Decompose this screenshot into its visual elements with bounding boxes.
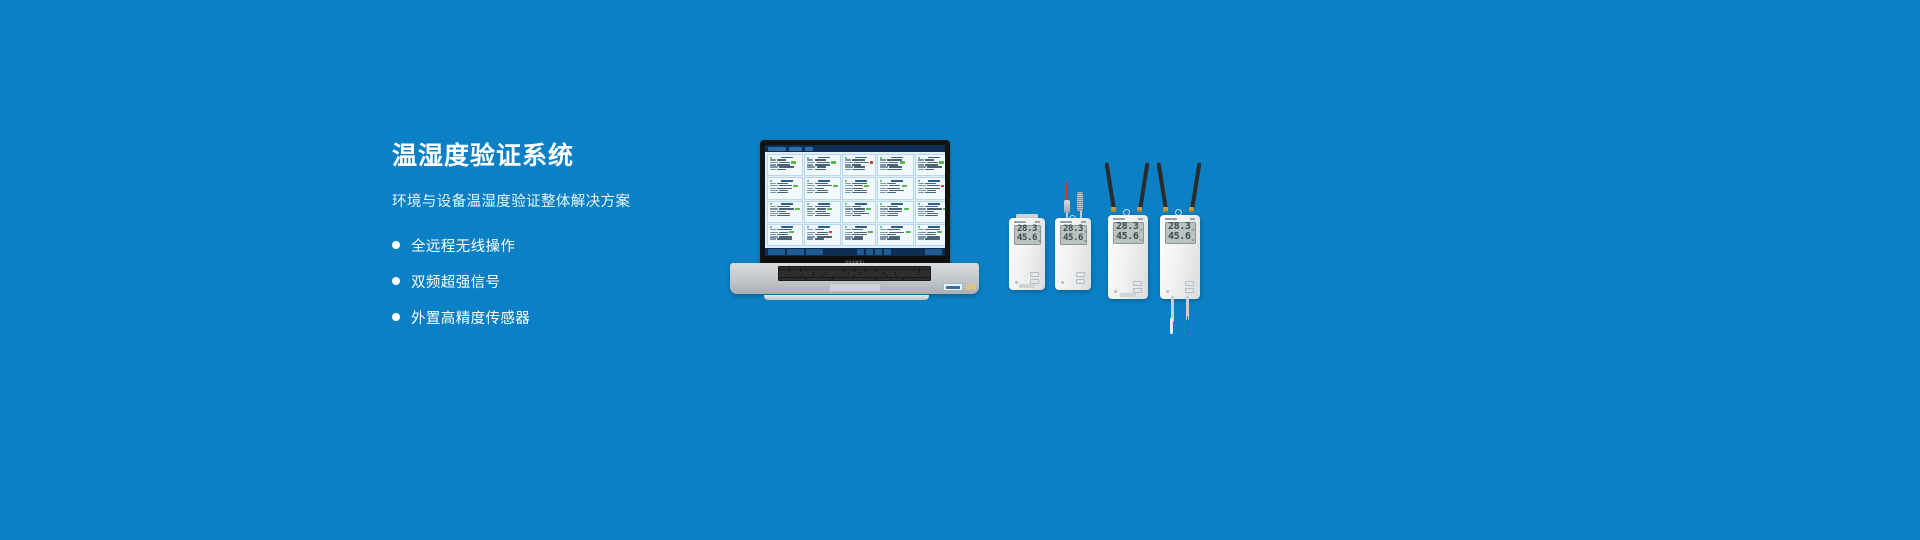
toolbar-page-1[interactable] bbox=[857, 249, 864, 255]
card-field-value bbox=[887, 183, 896, 184]
monitoring-card[interactable] bbox=[842, 177, 876, 199]
card-field-row bbox=[918, 234, 946, 235]
device-body: 28.3 ℃ 45.6 % bbox=[1055, 218, 1091, 290]
card-field-row bbox=[845, 206, 873, 207]
card-field-label bbox=[918, 159, 924, 160]
bullet-dot-icon bbox=[392, 277, 400, 285]
card-device-name bbox=[891, 157, 903, 159]
device-dual-antenna-logger-right[interactable]: 28.3 ℃ 45.6 % bbox=[1160, 210, 1200, 299]
card-status-led-icon bbox=[807, 157, 809, 159]
card-field-row bbox=[807, 231, 837, 233]
card-field-value bbox=[854, 166, 865, 167]
card-field-value bbox=[887, 169, 902, 170]
laptop-secondary-sticker bbox=[966, 284, 976, 290]
card-device-name bbox=[855, 157, 867, 159]
laptop-keyboard[interactable] bbox=[778, 266, 931, 281]
card-field-value bbox=[852, 211, 865, 212]
antenna-left-icon bbox=[1105, 162, 1116, 210]
card-field-value bbox=[925, 211, 934, 212]
card-field-row bbox=[770, 208, 800, 210]
card-field-row bbox=[918, 208, 946, 210]
card-field-label bbox=[880, 206, 886, 207]
card-field-row bbox=[845, 215, 873, 216]
feature-item-signal: 双频超强信号 bbox=[392, 269, 722, 294]
card-field-label bbox=[880, 208, 888, 209]
page-title: 温湿度验证系统 bbox=[392, 142, 722, 171]
card-field-label bbox=[918, 164, 924, 165]
card-field-label bbox=[770, 213, 778, 214]
lcd-humidity-value: 45.6 bbox=[1116, 232, 1138, 242]
card-status-led-icon bbox=[845, 157, 847, 159]
card-normal-tag bbox=[831, 161, 836, 163]
toolbar-page-2[interactable] bbox=[866, 249, 873, 255]
card-field-value bbox=[777, 169, 786, 170]
card-field-label bbox=[770, 159, 776, 160]
card-field-value bbox=[815, 188, 824, 189]
device-button-column bbox=[1133, 281, 1142, 294]
device-button-up[interactable] bbox=[1185, 281, 1194, 286]
card-field-row bbox=[845, 229, 873, 230]
card-status-led-icon bbox=[918, 180, 920, 182]
card-status-led-icon bbox=[845, 203, 847, 205]
card-field-label bbox=[918, 190, 926, 191]
lcd-humidity-row: 45.6 % bbox=[1116, 232, 1140, 242]
laptop-touchpad[interactable] bbox=[829, 283, 881, 292]
card-field-label bbox=[770, 234, 776, 235]
card-status-led-icon bbox=[880, 157, 882, 159]
card-field-label bbox=[807, 185, 815, 186]
card-field-label bbox=[880, 236, 888, 237]
card-field-row bbox=[770, 234, 800, 235]
card-field-value bbox=[779, 208, 794, 209]
monitoring-card[interactable] bbox=[877, 177, 913, 199]
card-field-value bbox=[927, 208, 942, 209]
card-field-row bbox=[880, 234, 910, 235]
card-field-label bbox=[880, 159, 886, 160]
card-field-row bbox=[880, 164, 910, 165]
card-field-label bbox=[770, 188, 776, 189]
card-status-led-icon bbox=[807, 226, 809, 228]
card-header bbox=[770, 203, 800, 205]
card-field-row bbox=[807, 169, 837, 170]
card-field-row bbox=[918, 211, 946, 212]
card-field-row bbox=[845, 192, 873, 193]
card-device-name bbox=[818, 203, 830, 205]
device-model-label bbox=[1081, 221, 1086, 223]
card-normal-tag bbox=[868, 231, 873, 233]
card-header bbox=[880, 203, 910, 205]
keyboard-key[interactable] bbox=[819, 278, 832, 280]
device-model-label bbox=[1138, 218, 1143, 220]
card-field-label bbox=[918, 169, 924, 170]
toolbar-button-settings[interactable] bbox=[806, 249, 823, 255]
device-button-column bbox=[1076, 272, 1085, 285]
card-field-row bbox=[880, 169, 910, 170]
card-field-value bbox=[889, 162, 898, 163]
card-field-label bbox=[845, 188, 851, 189]
card-field-value bbox=[815, 169, 826, 170]
card-field-value bbox=[927, 236, 940, 237]
card-field-row bbox=[880, 208, 910, 210]
keyboard-key[interactable] bbox=[833, 278, 877, 280]
card-field-label bbox=[845, 183, 851, 184]
monitoring-card[interactable] bbox=[804, 201, 840, 223]
lcd-temperature-unit: ℃ bbox=[1084, 231, 1087, 235]
card-field-label bbox=[918, 215, 924, 216]
card-field-value bbox=[817, 236, 832, 237]
card-field-value bbox=[777, 192, 788, 193]
card-field-row bbox=[807, 159, 837, 160]
toolbar-button-exit[interactable] bbox=[925, 249, 942, 255]
antenna-connector-right bbox=[1189, 207, 1194, 212]
card-field-value bbox=[927, 162, 938, 163]
card-field-label bbox=[807, 236, 815, 237]
monitoring-card[interactable] bbox=[915, 224, 946, 246]
card-normal-tag bbox=[833, 185, 838, 187]
card-field-row bbox=[845, 190, 873, 191]
card-field-row bbox=[807, 183, 837, 184]
card-field-label bbox=[770, 206, 776, 207]
card-field-label bbox=[807, 159, 813, 160]
card-field-label bbox=[918, 229, 924, 230]
keyboard-key[interactable] bbox=[806, 278, 819, 280]
monitoring-card[interactable] bbox=[767, 224, 803, 246]
card-field-label bbox=[918, 192, 924, 193]
device-body: 28.3 ℃ 45.6 % bbox=[1108, 215, 1148, 299]
card-field-row bbox=[770, 206, 800, 207]
card-field-row bbox=[807, 229, 837, 230]
lcd-humidity-row: 45.6 % bbox=[1063, 234, 1083, 243]
monitoring-card[interactable] bbox=[877, 201, 913, 223]
device-lcd-display: 28.3 ℃ 45.6 % bbox=[1165, 222, 1196, 244]
card-field-value bbox=[852, 159, 865, 160]
titlebar-menu-alarm[interactable] bbox=[805, 147, 813, 151]
card-field-label bbox=[770, 232, 778, 233]
probe-cap-left bbox=[1064, 200, 1070, 213]
device-brand-row bbox=[1108, 215, 1148, 220]
device-button-down[interactable] bbox=[1185, 288, 1194, 293]
card-field-label bbox=[918, 188, 924, 189]
feature-label: 外置高精度传感器 bbox=[411, 307, 530, 328]
card-field-value bbox=[779, 166, 794, 167]
card-normal-tag bbox=[906, 231, 911, 233]
card-field-label bbox=[770, 162, 778, 163]
card-field-label bbox=[807, 190, 815, 191]
antenna-right-icon bbox=[1138, 162, 1149, 210]
toolbar-button-export[interactable] bbox=[787, 249, 804, 255]
card-field-label bbox=[918, 208, 926, 209]
card-field-label bbox=[807, 215, 813, 216]
card-field-value bbox=[815, 183, 828, 184]
card-field-row bbox=[918, 192, 946, 193]
device-brand-label bbox=[1014, 221, 1026, 223]
card-field-value bbox=[925, 192, 936, 193]
card-normal-tag bbox=[791, 161, 796, 163]
card-field-label bbox=[845, 192, 851, 193]
card-field-value bbox=[777, 211, 786, 212]
card-field-label bbox=[807, 188, 813, 189]
card-field-row bbox=[770, 238, 800, 239]
card-field-label bbox=[880, 166, 888, 167]
card-field-value bbox=[889, 213, 898, 214]
card-header bbox=[880, 157, 910, 159]
card-field-value bbox=[817, 190, 828, 191]
lcd-humidity-row: 45.6 % bbox=[1168, 232, 1192, 242]
card-field-value bbox=[887, 164, 898, 165]
card-field-value bbox=[779, 190, 788, 191]
card-field-row bbox=[918, 185, 946, 187]
monitoring-card[interactable] bbox=[767, 154, 803, 176]
card-device-name bbox=[855, 226, 867, 228]
card-field-value bbox=[925, 169, 934, 170]
card-field-label bbox=[845, 208, 853, 209]
device-status-led-icon bbox=[1061, 281, 1064, 284]
card-field-label bbox=[880, 192, 886, 193]
card-field-value bbox=[815, 192, 828, 193]
card-field-value bbox=[817, 166, 826, 167]
monitoring-card[interactable] bbox=[842, 224, 876, 246]
card-field-row bbox=[845, 211, 873, 212]
card-field-value bbox=[925, 234, 936, 235]
card-field-value bbox=[925, 229, 940, 230]
keyboard-key[interactable] bbox=[917, 278, 930, 280]
card-field-label bbox=[807, 162, 815, 163]
monitoring-card[interactable] bbox=[804, 177, 840, 199]
card-device-name bbox=[928, 226, 940, 228]
card-field-row bbox=[845, 169, 873, 170]
page-subtitle: 环境与设备温湿度验证整体解决方案 bbox=[392, 190, 722, 211]
keyboard-key[interactable] bbox=[792, 278, 805, 280]
card-field-value bbox=[779, 232, 788, 233]
card-device-name bbox=[928, 180, 940, 182]
card-field-value bbox=[887, 234, 896, 235]
titlebar-menu-devices[interactable] bbox=[789, 147, 802, 151]
monitoring-card[interactable] bbox=[877, 224, 913, 246]
card-normal-tag bbox=[864, 185, 869, 187]
monitoring-card[interactable] bbox=[877, 154, 913, 176]
laptop-spec-sticker bbox=[943, 283, 963, 291]
lcd-humidity-unit: % bbox=[1139, 239, 1142, 243]
card-field-value bbox=[854, 208, 865, 209]
card-device-name bbox=[855, 203, 867, 205]
card-field-value bbox=[777, 238, 792, 239]
card-field-row bbox=[880, 229, 910, 230]
card-device-name bbox=[928, 157, 940, 159]
card-status-led-icon bbox=[880, 203, 882, 205]
monitoring-card[interactable] bbox=[915, 177, 946, 199]
card-field-row bbox=[807, 185, 837, 187]
card-header bbox=[845, 203, 873, 205]
card-field-label bbox=[880, 185, 888, 186]
card-header bbox=[845, 157, 873, 159]
card-field-row bbox=[770, 159, 800, 160]
card-header bbox=[918, 180, 946, 182]
card-field-label bbox=[770, 229, 776, 230]
card-header bbox=[770, 157, 800, 159]
card-field-value bbox=[887, 238, 900, 239]
card-normal-tag bbox=[827, 208, 832, 210]
card-field-label bbox=[845, 185, 853, 186]
external-sensor-tip-left bbox=[1170, 318, 1173, 334]
card-header bbox=[807, 226, 837, 228]
toolbar-page-4[interactable] bbox=[884, 249, 891, 255]
keyboard-key[interactable] bbox=[779, 278, 792, 280]
lcd-humidity-value: 45.6 bbox=[1017, 234, 1037, 243]
card-field-value bbox=[889, 236, 900, 237]
device-wireless-data-logger-probe[interactable]: 28.3 ℃ 45.6 % bbox=[1055, 218, 1091, 290]
card-field-value bbox=[779, 236, 792, 237]
antenna-connector-left bbox=[1163, 207, 1168, 212]
card-header bbox=[880, 226, 910, 228]
monitoring-card[interactable] bbox=[842, 201, 876, 223]
card-field-label bbox=[770, 164, 776, 165]
card-field-row bbox=[880, 215, 910, 216]
monitoring-card[interactable] bbox=[915, 154, 946, 176]
card-field-value bbox=[925, 206, 938, 207]
monitoring-card[interactable] bbox=[804, 224, 840, 246]
card-field-label bbox=[770, 166, 778, 167]
device-brand-label bbox=[1165, 218, 1177, 220]
card-field-label bbox=[918, 213, 926, 214]
monitoring-card[interactable] bbox=[842, 154, 876, 176]
card-field-label bbox=[845, 190, 853, 191]
card-field-label bbox=[770, 190, 778, 191]
antenna-right-icon bbox=[1190, 162, 1201, 210]
laptop-base bbox=[722, 260, 987, 300]
card-field-label bbox=[807, 192, 813, 193]
titlebar-menu-monitoring[interactable] bbox=[768, 147, 786, 151]
card-field-label bbox=[770, 192, 776, 193]
card-field-row bbox=[918, 190, 946, 191]
device-button-up[interactable] bbox=[1133, 281, 1142, 286]
card-field-label bbox=[918, 183, 924, 184]
card-field-label bbox=[918, 234, 924, 235]
card-field-value bbox=[852, 192, 867, 193]
card-status-led-icon bbox=[845, 226, 847, 228]
card-field-label bbox=[845, 162, 853, 163]
keyboard-key[interactable] bbox=[890, 278, 903, 280]
card-field-row bbox=[845, 208, 873, 210]
card-field-value bbox=[887, 211, 902, 212]
card-field-label bbox=[845, 232, 853, 233]
device-model-label bbox=[1035, 221, 1040, 223]
laptop-product-image: HUAWEI bbox=[722, 140, 987, 300]
device-button-down[interactable] bbox=[1076, 279, 1085, 284]
card-field-value bbox=[777, 183, 788, 184]
card-field-row bbox=[845, 213, 873, 214]
card-field-value bbox=[779, 213, 790, 214]
card-field-row bbox=[770, 215, 800, 216]
card-field-value bbox=[852, 188, 863, 189]
device-wireless-data-logger-basic[interactable]: 28.3 ℃ 45.6 % bbox=[1009, 218, 1045, 290]
monitoring-card[interactable] bbox=[804, 154, 840, 176]
card-field-value bbox=[852, 183, 867, 184]
card-field-value bbox=[889, 166, 902, 167]
card-normal-tag bbox=[943, 208, 945, 210]
card-normal-tag bbox=[937, 231, 942, 233]
toolbar-page-3[interactable] bbox=[875, 249, 882, 255]
card-field-row bbox=[880, 183, 910, 184]
card-field-label bbox=[880, 215, 886, 216]
device-speaker-grille bbox=[1120, 293, 1136, 297]
card-field-value bbox=[815, 164, 830, 165]
card-field-label bbox=[770, 169, 776, 170]
device-dual-antenna-logger-left[interactable]: 28.3 ℃ 45.6 % bbox=[1108, 210, 1148, 299]
card-field-row bbox=[880, 206, 910, 207]
monitoring-card[interactable] bbox=[767, 177, 803, 199]
card-field-value bbox=[852, 164, 861, 165]
card-field-label bbox=[918, 236, 926, 237]
card-field-label bbox=[807, 211, 813, 212]
device-brand-row bbox=[1009, 218, 1045, 223]
card-field-label bbox=[845, 166, 853, 167]
card-field-value bbox=[779, 162, 790, 163]
card-normal-tag bbox=[904, 208, 909, 210]
card-field-row bbox=[918, 183, 946, 184]
card-field-label bbox=[880, 164, 886, 165]
keyboard-key[interactable] bbox=[877, 278, 890, 280]
card-field-row bbox=[770, 185, 800, 187]
card-field-row bbox=[845, 238, 873, 239]
card-field-label bbox=[807, 206, 813, 207]
card-device-name bbox=[891, 203, 903, 205]
device-button-up[interactable] bbox=[1076, 272, 1085, 277]
device-lcd-display: 28.3 ℃ 45.6 % bbox=[1060, 225, 1087, 245]
card-field-row bbox=[918, 169, 946, 170]
lcd-humidity-value: 45.6 bbox=[1063, 234, 1083, 243]
device-controls bbox=[1055, 272, 1091, 285]
card-field-row bbox=[807, 238, 837, 239]
card-field-value bbox=[817, 185, 832, 186]
card-field-row bbox=[770, 211, 800, 212]
toolbar-button-refresh[interactable] bbox=[768, 249, 785, 255]
card-field-value bbox=[925, 238, 940, 239]
card-field-row bbox=[880, 213, 910, 214]
card-field-row bbox=[845, 183, 873, 184]
card-field-label bbox=[880, 188, 886, 189]
card-field-value bbox=[777, 188, 792, 189]
card-alarm-tag bbox=[941, 185, 944, 187]
card-device-name bbox=[781, 157, 793, 159]
monitoring-card[interactable] bbox=[767, 201, 803, 223]
card-field-label bbox=[770, 215, 776, 216]
card-field-label bbox=[845, 169, 851, 170]
card-field-value bbox=[854, 236, 863, 237]
card-field-value bbox=[854, 185, 863, 186]
feature-list: 全远程无线操作 双频超强信号 外置高精度传感器 bbox=[392, 233, 722, 330]
laptop-lid: HUAWEI bbox=[760, 140, 950, 270]
card-field-value bbox=[815, 234, 828, 235]
keyboard-key[interactable] bbox=[904, 278, 917, 280]
monitoring-card[interactable] bbox=[915, 201, 946, 223]
card-field-label bbox=[880, 211, 886, 212]
card-field-row bbox=[918, 215, 946, 216]
card-field-label bbox=[918, 232, 926, 233]
card-field-row bbox=[845, 231, 873, 233]
device-button-up[interactable] bbox=[1030, 272, 1039, 277]
card-field-row bbox=[880, 236, 910, 237]
card-field-value bbox=[777, 206, 790, 207]
card-alarm-tag bbox=[829, 231, 832, 233]
card-field-label bbox=[807, 238, 813, 239]
card-header bbox=[845, 180, 873, 182]
card-field-row bbox=[880, 159, 910, 160]
device-status-led-icon bbox=[1114, 290, 1117, 293]
card-field-value bbox=[815, 159, 826, 160]
data-logger-group: 28.3 ℃ 45.6 % bbox=[1005, 180, 1235, 360]
device-body: 28.3 ℃ 45.6 % bbox=[1009, 218, 1045, 290]
card-device-name bbox=[818, 157, 830, 159]
